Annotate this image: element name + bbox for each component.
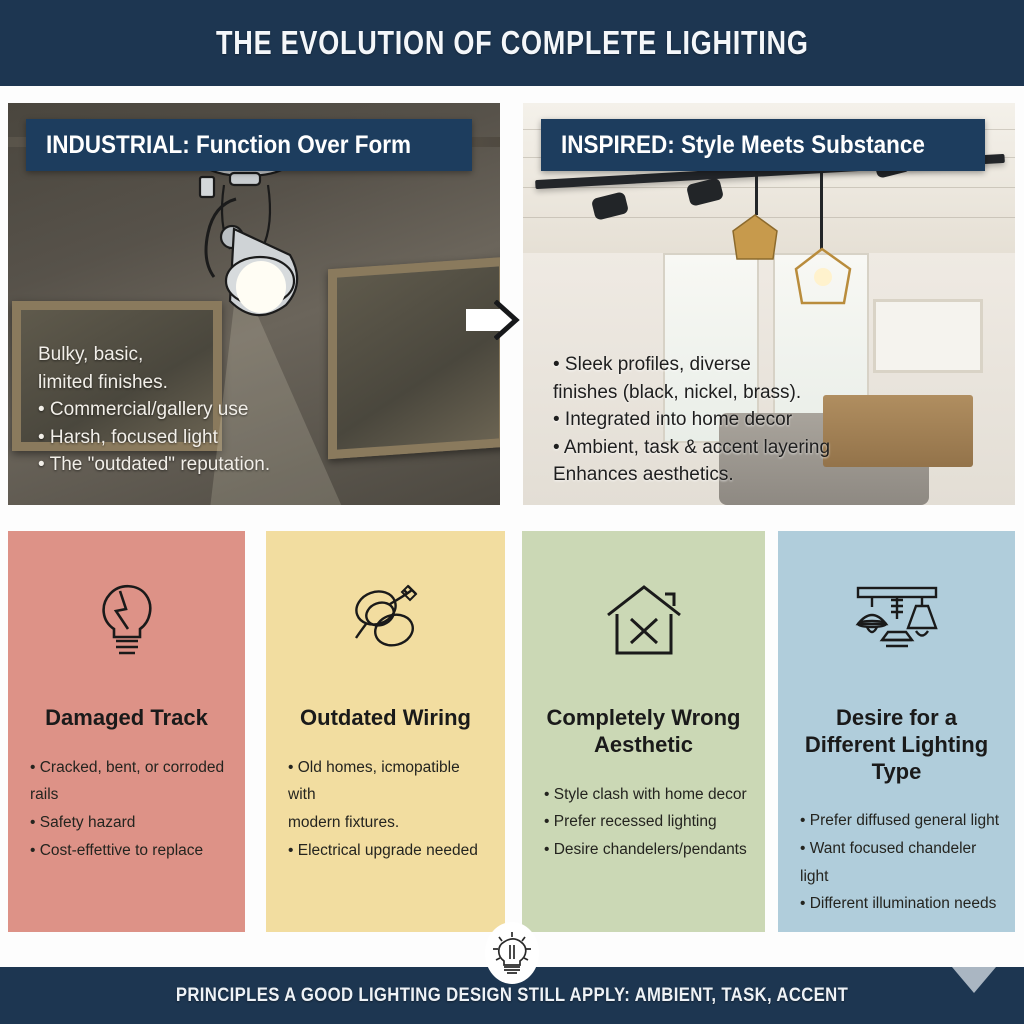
industrial-bullet-list: Bulky, basic, limited finishes. • Commer…: [38, 341, 270, 479]
panel-headline-text: INDUSTRIAL: Function Over Form: [46, 131, 411, 160]
glowing-lightbulb-badge: [485, 922, 539, 984]
inspired-bullet-list: • Sleek profiles, diverse finishes (blac…: [553, 351, 830, 489]
chandelier-icon: [850, 577, 944, 663]
list-item: • Commercial/gallery use: [38, 396, 270, 424]
arrow-chevron: [494, 300, 520, 340]
comparison-panel-inspired: INSPIRED: Style Meets Substance • Sleek …: [523, 103, 1015, 505]
comparison-panel-industrial: INDUSTRIAL: Function Over Form Bulky, ba…: [8, 103, 500, 505]
list-item: • Integrated into home decor: [553, 406, 830, 434]
card-title: Desire for a Different Lighting Type: [794, 705, 999, 785]
list-item: • Cracked, bent, or corroded rails: [30, 754, 229, 809]
track-heads-group: [523, 143, 1015, 343]
issue-card-wrong-aesthetic[interactable]: Completely Wrong Aesthetic • Style clash…: [522, 531, 765, 932]
list-item: Bulky, basic,: [38, 341, 270, 369]
list-item: • Harsh, focused light: [38, 424, 270, 452]
list-item: • Safety hazard: [30, 809, 229, 837]
card-bullet-list: • Prefer diffused general light • Want f…: [794, 807, 999, 917]
card-bullet-list: • Old homes, icmopatible with modern fix…: [282, 754, 489, 864]
footer-tagline: PRINCIPLES A GOOD LIGHTING DESIGN STILL …: [176, 985, 848, 1007]
list-item: • Sleek profiles, diverse: [553, 351, 830, 379]
list-item: • Style clash with home decor: [544, 781, 749, 809]
card-title: Outdated Wiring: [300, 705, 471, 732]
list-item: • Prefer diffused general light: [800, 807, 999, 835]
panel-headline-inspired: INSPIRED: Style Meets Substance: [541, 119, 985, 171]
infographic-page: THE EVOLUTION OF COMPLETE LIGHITING: [0, 0, 1024, 1024]
card-title: Completely Wrong Aesthetic: [538, 705, 749, 759]
page-title: THE EVOLUTION OF COMPLETE LIGHITING: [216, 24, 809, 62]
card-bullet-list: • Cracked, bent, or corroded rails • Saf…: [24, 754, 229, 864]
panel-headline-industrial: INDUSTRIAL: Function Over Form: [26, 119, 472, 171]
list-item: • Electrical upgrade needed: [288, 837, 489, 865]
list-item: • The "outdated" reputation.: [38, 451, 270, 479]
panel-headline-text: INSPIRED: Style Meets Substance: [561, 131, 925, 160]
glowing-lightbulb-icon: [489, 929, 535, 977]
issue-card-outdated-wiring[interactable]: Outdated Wiring • Old homes, icmopatible…: [266, 531, 505, 932]
issue-card-damaged-track[interactable]: Damaged Track • Cracked, bent, or corrod…: [8, 531, 245, 932]
card-bullet-list: • Style clash with home decor • Prefer r…: [538, 781, 749, 864]
card-title: Damaged Track: [45, 705, 208, 732]
list-item: Enhances aesthetics.: [553, 461, 830, 489]
sideboard: [823, 395, 973, 467]
list-item: modern fixtures.: [288, 809, 489, 837]
footer-notch-decoration: [952, 967, 996, 993]
list-item: • Old homes, icmopatible with: [288, 754, 489, 809]
arrow-right-icon: [466, 292, 532, 350]
list-item: • Cost-effettive to replace: [30, 837, 229, 865]
cracked-lightbulb-icon: [90, 577, 164, 663]
list-item: • Prefer recessed lighting: [544, 808, 749, 836]
list-item: • Different illumination needs: [800, 890, 999, 918]
list-item: • Want focused chandeler light: [800, 835, 999, 890]
list-item: finishes (black, nickel, brass).: [553, 379, 830, 407]
list-item: • Desire chandelers/pendants: [544, 836, 749, 864]
list-item: • Ambient, task & accent layering: [553, 434, 830, 462]
list-item: limited finishes.: [38, 369, 270, 397]
header-bar: THE EVOLUTION OF COMPLETE LIGHITING: [0, 0, 1024, 86]
house-with-x-icon: [603, 577, 685, 663]
coiled-wire-icon: [344, 577, 428, 663]
issue-card-different-lighting-type[interactable]: Desire for a Different Lighting Type • P…: [778, 531, 1015, 932]
